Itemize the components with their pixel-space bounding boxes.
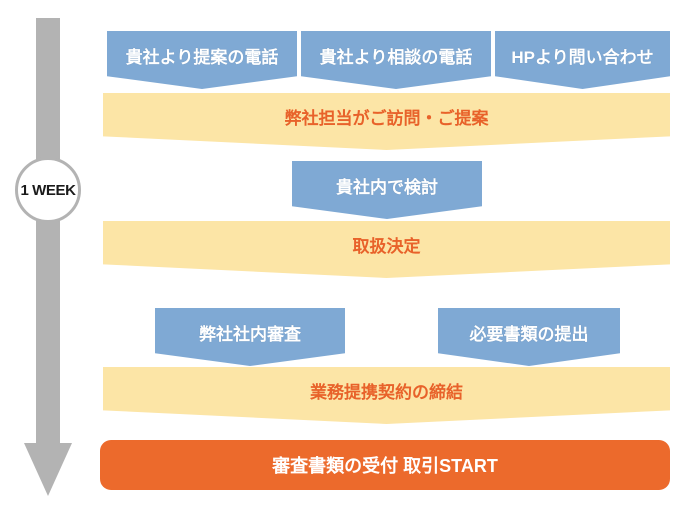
band-label: 取扱決定 <box>353 232 421 257</box>
band-handling-decision[interactable]: 取扱決定 <box>103 221 670 278</box>
band-visit-proposal[interactable]: 弊社担当がご訪問・ご提案 <box>103 93 670 150</box>
node-label: HPより問い合わせ <box>511 43 653 68</box>
node-consultation-call[interactable]: 貴社より相談の電話 <box>301 31 491 89</box>
process-flow-diagram: 1 WEEK 貴社より提案の電話 貴社より相談の電話 HPより問い合わせ 弊社担… <box>0 0 700 517</box>
timeline-arrow: 1 WEEK <box>0 0 100 517</box>
node-document-submission[interactable]: 必要書類の提出 <box>438 308 620 366</box>
node-label: 貴社より提案の電話 <box>126 43 279 68</box>
node-proposal-call[interactable]: 貴社より提案の電話 <box>107 31 297 89</box>
node-label: 貴社より相談の電話 <box>320 43 473 68</box>
band-label: 業務提携契約の締結 <box>310 378 463 403</box>
down-arrow-icon <box>0 0 100 517</box>
node-internal-review[interactable]: 貴社内で検討 <box>292 161 482 219</box>
node-label: 弊社社内審査 <box>199 320 301 345</box>
week-badge-label: 1 WEEK <box>20 182 75 199</box>
bar-label: 審査書類の受付 取引START <box>272 452 498 478</box>
node-label: 貴社内で検討 <box>336 173 438 198</box>
node-hp-inquiry[interactable]: HPより問い合わせ <box>495 31 670 89</box>
node-label: 必要書類の提出 <box>470 320 589 345</box>
band-partnership-contract[interactable]: 業務提携契約の締結 <box>103 367 670 424</box>
week-badge: 1 WEEK <box>15 157 81 223</box>
band-label: 弊社担当がご訪問・ご提案 <box>285 104 489 129</box>
node-internal-screening[interactable]: 弊社社内審査 <box>155 308 345 366</box>
bar-transaction-start[interactable]: 審査書類の受付 取引START <box>100 440 670 490</box>
